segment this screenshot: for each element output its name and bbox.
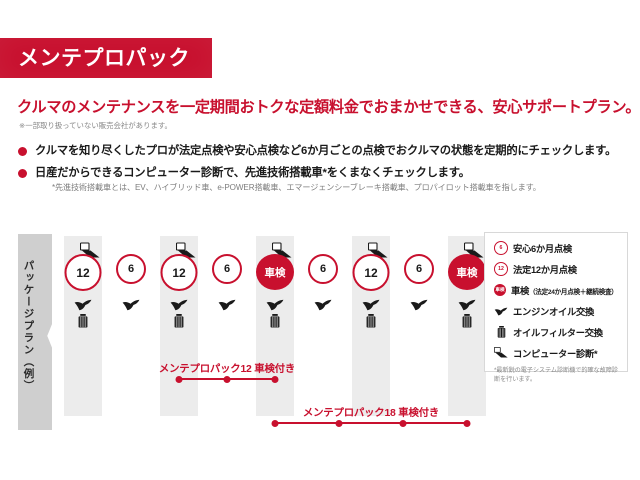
oil-filter-icon: [366, 314, 377, 328]
plan-bar-dot: [176, 376, 183, 383]
engine-oil-icon: [494, 305, 508, 317]
timeline-column-1[interactable]: 12: [64, 236, 102, 416]
bullet-text: クルマを知り尽くしたプロが法定点検や安心点検など6か月ごとの点検でおクルマの状態…: [35, 144, 616, 158]
list-item: 日産だからできるコンピューター診断で、先進技術搭載車*をくまなくチェックします。…: [18, 166, 628, 193]
plan-bar-dot: [464, 420, 471, 427]
inspection-node[interactable]: 12: [65, 254, 102, 291]
legend-label: オイルフィルター交換: [513, 325, 603, 339]
inspection-node[interactable]: 6: [116, 254, 146, 284]
timeline-column-4[interactable]: 6: [208, 236, 246, 416]
engine-oil-icon: [170, 298, 189, 310]
legend-item: 12法定12か月点検: [494, 262, 619, 276]
page-title: メンテプロパック: [0, 48, 190, 69]
bullet-dot-icon: [18, 147, 27, 156]
lead-headline: クルマのメンテナンスを一定期間おトクな定額料金でおまかせできる、安心サポートプラ…: [17, 95, 623, 117]
oil-filter-icon: [174, 314, 185, 328]
plan-bar-dot: [224, 376, 231, 383]
package-plan-diagram: パッケージプラン（例） 126126車検6126車検メンテプロパック12 車検付…: [12, 228, 628, 440]
engine-oil-icon: [362, 298, 381, 310]
inspection-node[interactable]: 車検: [448, 254, 486, 290]
engine-oil-icon: [266, 298, 285, 310]
bullet-text: 日産だからできるコンピューター診断で、先進技術搭載車*をくまなくチェックします。: [35, 166, 541, 180]
legend-item: オイルフィルター交換: [494, 325, 619, 339]
plan-bar-dot: [400, 420, 407, 427]
inspection-node[interactable]: 12: [161, 254, 198, 291]
inspection-node[interactable]: 6: [308, 254, 338, 284]
timeline-column-8[interactable]: 6: [400, 236, 438, 416]
legend-item: コンピューター診断*: [494, 346, 619, 360]
legend-item: エンジンオイル交換: [494, 304, 619, 318]
bullet-dot-icon: [18, 169, 27, 178]
engine-oil-icon: [74, 298, 93, 310]
engine-oil-icon: [410, 298, 429, 310]
engine-oil-icon: [218, 298, 237, 310]
timeline-column-9[interactable]: 車検: [448, 236, 486, 416]
timeline-column-2[interactable]: 6: [112, 236, 150, 416]
timeline-column-3[interactable]: 12: [160, 236, 198, 416]
legend-item: 6安心6か月点検: [494, 241, 619, 255]
package-plan-tab-label: パッケージプラン（例）: [12, 228, 46, 424]
plan-bar[interactable]: メンテプロパック18 車検付き: [275, 402, 467, 428]
legend-label: コンピューター診断*: [513, 346, 597, 360]
legend-footnote: *最新鋭の電子システム診断機で的確な故障診断を行います。: [494, 367, 619, 385]
plan-bar-label: メンテプロパック12 車検付き: [159, 360, 295, 375]
timeline-track: 126126車検6126車検メンテプロパック12 車検付きメンテプロパック18 …: [64, 228, 484, 440]
inspection-node[interactable]: 6: [212, 254, 242, 284]
page-root: メンテプロパック クルマのメンテナンスを一定期間おトクな定額料金でおまかせできる…: [0, 0, 640, 480]
plan-bar-dot: [272, 420, 279, 427]
plan-bar-label: メンテプロパック18 車検付き: [303, 404, 439, 419]
plan-bar-dot: [336, 420, 343, 427]
oil-filter-icon: [78, 314, 89, 328]
legend-badge-6: 6: [494, 241, 508, 255]
oil-filter-icon: [270, 314, 281, 328]
inspection-node[interactable]: 12: [353, 254, 390, 291]
engine-oil-icon: [314, 298, 333, 310]
plan-bar-dot: [272, 376, 279, 383]
timeline-column-6[interactable]: 6: [304, 236, 342, 416]
inspection-node[interactable]: 6: [404, 254, 434, 284]
legend-label-sub: （法定24か月点検＋継続検査）: [529, 289, 618, 296]
legend-label: 安心6か月点検: [513, 241, 572, 255]
legend-label: 法定12か月点検: [513, 262, 577, 276]
computer-diagnosis-icon: [494, 347, 508, 359]
timeline-column-7[interactable]: 12: [352, 236, 390, 416]
plan-bar-line: [275, 422, 467, 424]
engine-oil-icon: [458, 298, 477, 310]
engine-oil-icon: [122, 298, 141, 310]
timeline-column-5[interactable]: 車検: [256, 236, 294, 416]
plan-bar[interactable]: メンテプロパック12 車検付き: [179, 358, 275, 384]
legend-badge-車検: 車検: [494, 284, 506, 296]
lead-note: ※一部取り扱っていない販売会社があります。: [19, 120, 172, 131]
legend-badge-12: 12: [494, 262, 508, 276]
bullet-list: クルマを知り尽くしたプロが法定点検や安心点検など6か月ごとの点検でおクルマの状態…: [18, 144, 628, 201]
oil-filter-icon: [494, 326, 508, 338]
bullet-footnote: *先進技術搭載車とは、EV、ハイブリッド車、e-POWER搭載車、エマージェンシ…: [52, 182, 541, 193]
legend-label: 車検（法定24か月点検＋継続検査）: [511, 283, 618, 297]
oil-filter-icon: [462, 314, 473, 328]
legend-label: エンジンオイル交換: [513, 304, 594, 318]
inspection-node[interactable]: 車検: [256, 254, 294, 290]
legend-box: 6安心6か月点検12法定12か月点検車検車検（法定24か月点検＋継続検査）エンジ…: [484, 232, 628, 372]
legend-item: 車検車検（法定24か月点検＋継続検査）: [494, 283, 619, 297]
header-banner: メンテプロパック: [0, 38, 212, 78]
list-item: クルマを知り尽くしたプロが法定点検や安心点検など6か月ごとの点検でおクルマの状態…: [18, 144, 628, 158]
